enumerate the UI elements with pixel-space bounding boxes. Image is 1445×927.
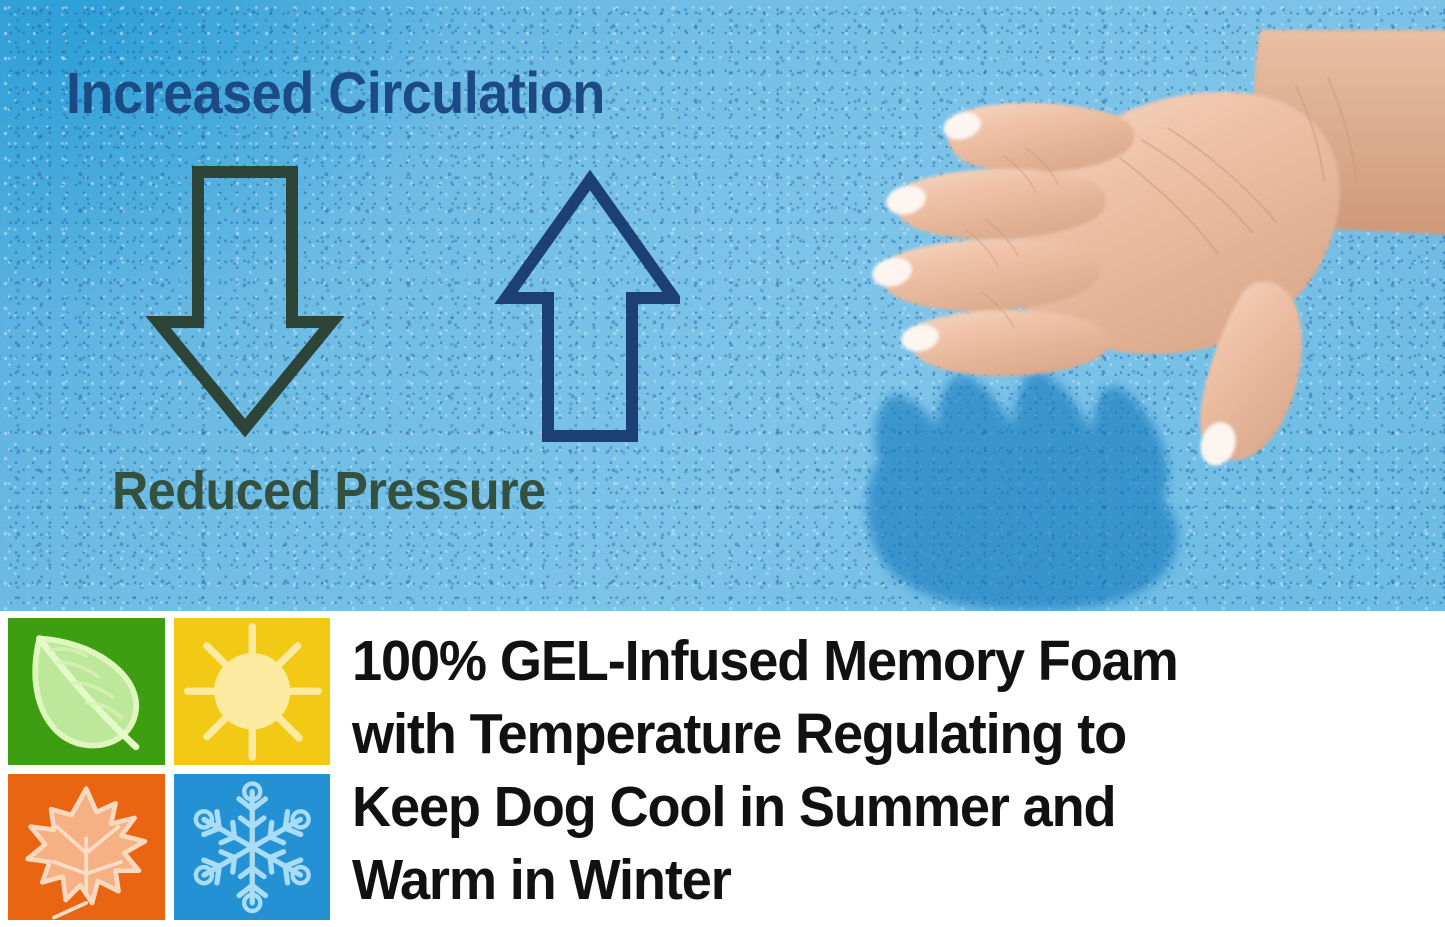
headline-line-3: Keep Dog Cool in Summer and	[352, 771, 1378, 844]
season-tile-spring	[8, 618, 165, 765]
pressure-circulation-arrows	[120, 160, 680, 450]
maple-leaf-icon	[8, 774, 165, 921]
snowflake-icon	[174, 774, 331, 921]
season-tile-autumn	[8, 774, 165, 921]
label-reduced-pressure: Reduced Pressure	[112, 460, 546, 522]
headline-line-2: with Temperature Regulating to	[352, 698, 1378, 771]
headline-line-1: 100% GEL-Infused Memory Foam	[352, 625, 1378, 698]
headline-line-4: Warm in Winter	[352, 844, 1378, 917]
memory-foam-photo: Increased Circulation Reduced Pressure	[0, 0, 1445, 611]
product-marketing-image: Increased Circulation Reduced Pressure	[0, 0, 1445, 927]
product-claim-bar: 100% GEL-Infused Memory Foam with Temper…	[0, 611, 1445, 927]
down-arrow-icon	[158, 172, 332, 428]
product-headline: 100% GEL-Infused Memory Foam with Temper…	[352, 625, 1378, 917]
hand-pressing-foam	[790, 20, 1445, 500]
up-arrow-icon	[506, 180, 674, 436]
leaf-icon	[8, 618, 165, 765]
label-increased-circulation: Increased Circulation	[66, 60, 605, 127]
four-season-icon-grid	[8, 618, 330, 920]
sun-icon	[174, 618, 331, 765]
season-tile-winter	[174, 774, 331, 921]
season-tile-summer	[174, 618, 331, 765]
